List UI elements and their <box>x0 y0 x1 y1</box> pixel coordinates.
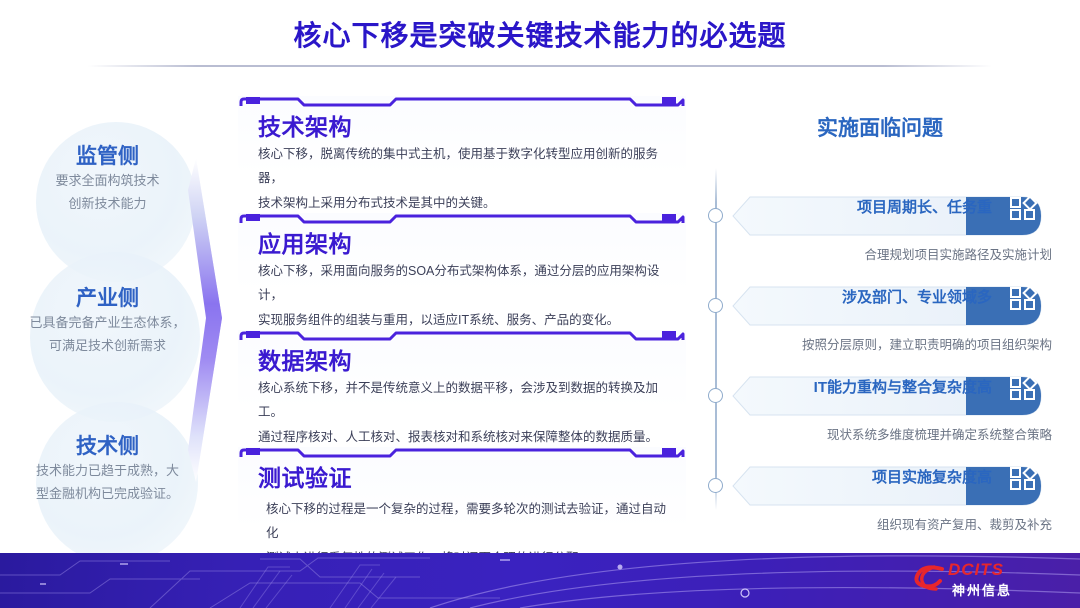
card-line: 核心下移，采用面向服务的SOA分布式架构体系，通过分层的应用架构设计， <box>258 259 672 308</box>
card-title: 测试验证 <box>258 459 352 493</box>
logo-subtext: 神州信息 <box>952 580 1012 599</box>
timeline-dot-icon <box>708 388 723 403</box>
timeline-dot-icon <box>708 478 723 493</box>
grid-diamond-icon <box>1008 376 1048 400</box>
card-line: 实现服务组件的组装与重用，以适应IT系统、服务、产品的变化。 <box>258 308 672 332</box>
card-body: 核心系统下移，并不是传统意义上的数据平移，会涉及到数据的转换及加工。 通过程序核… <box>258 376 672 449</box>
swirl-logo-icon <box>912 564 946 594</box>
title-divider <box>88 65 992 67</box>
card-line: 核心下移的过程是一个复杂的过程，需要多轮次的测试去验证，通过自动化 <box>266 497 672 546</box>
timeline-label: 涉及部门、专业领域多 <box>842 278 992 318</box>
card-body: 核心下移，采用面向服务的SOA分布式架构体系，通过分层的应用架构设计， 实现服务… <box>258 259 672 332</box>
timeline-dot-icon <box>708 208 723 223</box>
card-technology-architecture[interactable]: 技术架构 核心下移，脱离传统的集中式主机，使用基于数字化转型应用创新的服务器， … <box>238 96 686 206</box>
right-panel: 实施面临问题 项目周期长、任务重 <box>700 100 1060 550</box>
timeline-subtext: 组织现有资产复用、裁剪及补充 <box>877 514 1052 533</box>
card-line: 技术架构上采用分布式技术是其中的关键。 <box>258 191 672 215</box>
card-line: 通过程序核对、人工核对、报表核对和系统核对来保障整体的数据质量。 <box>258 425 672 449</box>
grid-diamond-icon <box>1008 196 1048 220</box>
timeline-label: IT能力重构与整合复杂度高 <box>814 368 992 408</box>
card-line: 核心系统下移，并不是传统意义上的数据平移，会涉及到数据的转换及加工。 <box>258 376 672 425</box>
slide-header: 核心下移是突破关键技术能力的必选题 <box>0 0 1080 70</box>
card-application-architecture[interactable]: 应用架构 核心下移，采用面向服务的SOA分布式架构体系，通过分层的应用架构设计，… <box>238 213 686 323</box>
right-panel-title: 实施面临问题 <box>700 112 1060 142</box>
logo-wordmark: DCITS <box>948 560 1004 580</box>
card-title: 技术架构 <box>258 108 352 142</box>
slide-footer: DCITS 神州信息 <box>0 553 1080 608</box>
page-title: 核心下移是突破关键技术能力的必选题 <box>0 14 1080 54</box>
card-title: 数据架构 <box>258 342 352 376</box>
grid-diamond-icon <box>1008 466 1048 490</box>
company-logo: DCITS 神州信息 <box>912 560 1062 600</box>
slide-root: 核心下移是突破关键技术能力的必选题 监管侧 要求全面构筑技术 创新技术能力 产业… <box>0 0 1080 608</box>
timeline-subtext: 合理规划项目实施路径及实施计划 <box>864 244 1052 263</box>
timeline-label: 项目周期长、任务重 <box>857 188 992 228</box>
timeline-subtext: 现状系统多维度梳理并确定系统整合策略 <box>827 424 1052 443</box>
card-body: 核心下移，脱离传统的集中式主机，使用基于数字化转型应用创新的服务器， 技术架构上… <box>258 142 672 215</box>
card-title: 应用架构 <box>258 225 352 259</box>
grid-diamond-icon <box>1008 286 1048 310</box>
card-test-verification[interactable]: 测试验证 核心下移的过程是一个复杂的过程，需要多轮次的测试去验证，通过自动化 测… <box>238 447 686 562</box>
card-data-architecture[interactable]: 数据架构 核心系统下移，并不是传统意义上的数据平移，会涉及到数据的转换及加工。 … <box>238 330 686 440</box>
right-chevron-arrow-icon <box>182 150 228 490</box>
architecture-card-list: 技术架构 核心下移，脱离传统的集中式主机，使用基于数字化转型应用创新的服务器， … <box>238 96 686 556</box>
timeline-dot-icon <box>708 298 723 313</box>
timeline-subtext: 按照分层原则，建立职责明确的项目组织架构 <box>802 334 1052 353</box>
card-line: 核心下移，脱离传统的集中式主机，使用基于数字化转型应用创新的服务器， <box>258 142 672 191</box>
timeline-label: 项目实施复杂度高 <box>872 458 992 498</box>
